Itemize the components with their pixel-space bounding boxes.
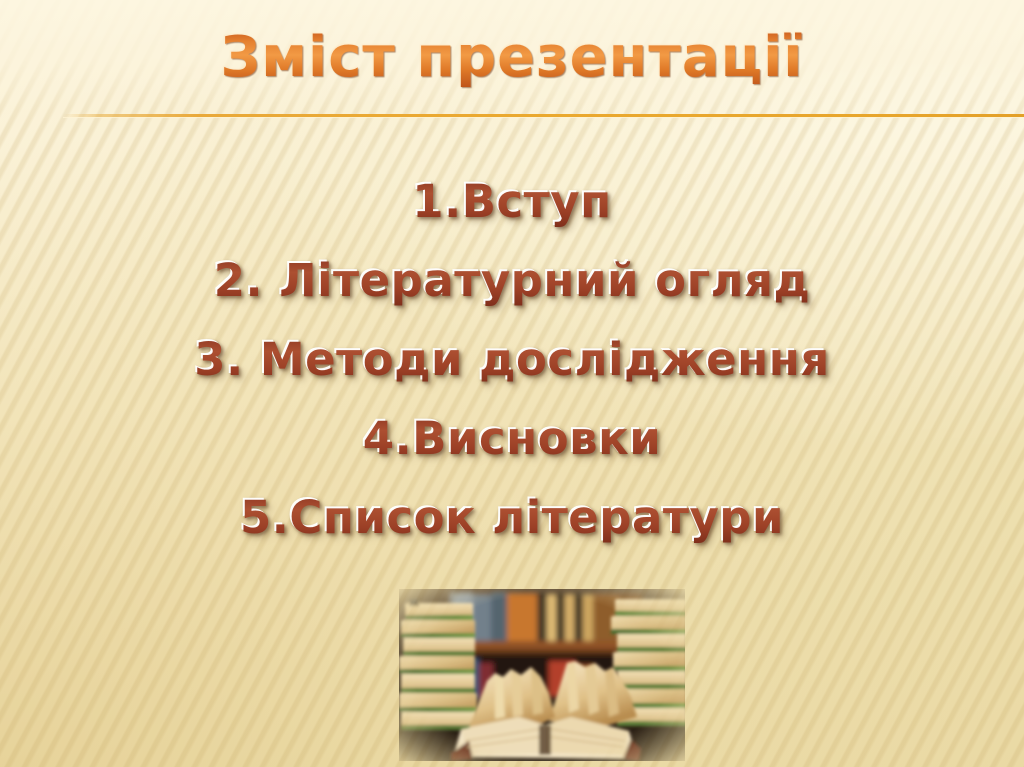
list-item: 4.Висновки xyxy=(0,399,1024,478)
title-underline-rule xyxy=(63,114,1024,117)
list-item: 1.Вступ xyxy=(0,162,1024,241)
list-item: 5.Список літератури xyxy=(0,478,1024,557)
books-illustration xyxy=(399,589,685,761)
list-item: 2. Літературний огляд xyxy=(0,241,1024,320)
contents-list: 1.Вступ 2. Літературний огляд 3. Методи … xyxy=(0,162,1024,557)
presentation-slide: Зміст презентації 1.Вступ 2. Літературни… xyxy=(0,0,1024,767)
books-photo xyxy=(399,589,685,761)
title-block: Зміст презентації xyxy=(0,28,1024,87)
page-title: Зміст презентації xyxy=(220,28,803,87)
list-item: 3. Методи дослідження xyxy=(0,320,1024,399)
